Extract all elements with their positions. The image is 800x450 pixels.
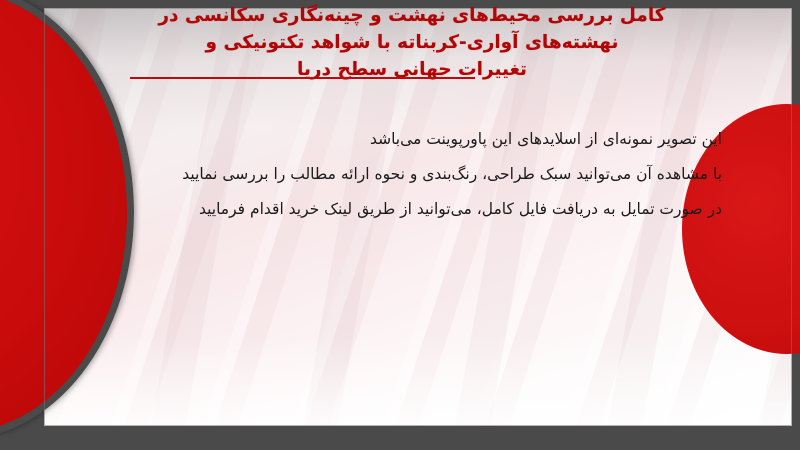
slide-body-text: این تصویر نمونه‌ای از اسلایدهای این پاور… [122, 122, 722, 227]
slide-body-line-1: این تصویر نمونه‌ای از اسلایدهای این پاور… [122, 122, 722, 157]
presentation-slide: کامل بررسی محیط‌های نهشت و چینه‌نگاری سک… [0, 0, 800, 450]
title-underline-rule [130, 77, 475, 79]
slide-title-line-1: کامل بررسی محیط‌های نهشت و چینه‌نگاری سک… [142, 2, 682, 29]
slide-title-line-2: نهشته‌های آواری-کربناته با شواهد تکتونیک… [142, 29, 682, 56]
slide-body-line-3: در صورت تمایل به دریافت فایل کامل، می‌تو… [122, 192, 722, 227]
slide-body-line-2: با مشاهده آن می‌توانید سبک طراحی، رنگ‌بن… [122, 157, 722, 192]
slide-title: کامل بررسی محیط‌های نهشت و چینه‌نگاری سک… [142, 2, 682, 83]
bottom-shading-overlay [44, 336, 792, 426]
